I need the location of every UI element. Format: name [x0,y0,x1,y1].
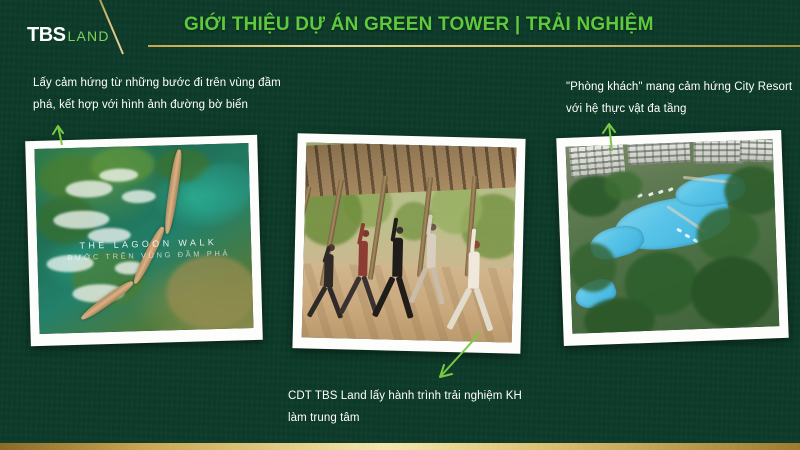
lagoon-foam [88,228,131,244]
photo-lagoon[interactable]: THE LAGOON WALK BƯỚC TRÊN VÙNG ĐẦM PHÁ [25,135,263,346]
resort-foliage [690,255,775,329]
photo-resort-image [566,139,780,333]
resort-lounger [648,191,654,196]
caption-left: Lấy cảm hứng từ những bước đi trên vùng … [33,72,303,117]
tbs-land-logo: TBS LAND [27,24,110,47]
lagoon-vegetation [166,254,254,330]
logo-secondary-text: LAND [68,28,110,44]
bottom-gold-bar [0,443,800,450]
arrow-down-left-icon-bottom [430,330,490,389]
resort-lounger [658,189,664,194]
resort-foliage [696,207,760,262]
photo-yoga[interactable] [292,133,525,354]
arrow-up-icon-right [592,114,626,157]
resort-building [627,139,690,165]
resort-lounger [668,187,674,192]
slide-header: TBS LAND GIỚI THIỆU DỰ ÁN GREEN TOWER | … [0,0,800,48]
resort-building [739,139,777,163]
lagoon-artwork: THE LAGOON WALK BƯỚC TRÊN VÙNG ĐẦM PHÁ [34,143,253,334]
lagoon-boardwalk [131,225,167,285]
resort-foliage [604,170,642,201]
caption-bottom: CDT TBS Land lấy hành trình trải nghiệm … [288,385,538,430]
lagoon-foam [121,190,156,204]
header-gold-rule [148,45,800,47]
logo-primary-text: TBS [27,24,66,47]
photo-resort[interactable] [556,130,788,346]
slide-canvas: TBS LAND GIỚI THIỆU DỰ ÁN GREEN TOWER | … [0,0,800,450]
yoga-figure [412,223,456,310]
resort-artwork [566,139,780,333]
lagoon-foam [65,180,113,198]
resort-building [694,139,744,163]
photo-yoga-image [302,142,517,342]
lagoon-foam [53,210,109,230]
page-title: GIỚI THIỆU DỰ ÁN GREEN TOWER | TRẢI NGHI… [184,14,654,36]
arrow-up-icon-left [42,112,76,151]
yoga-figure [453,240,501,335]
yoga-artwork [302,142,517,342]
photo-lagoon-image: THE LAGOON WALK BƯỚC TRÊN VÙNG ĐẦM PHÁ [34,143,253,334]
lagoon-water [193,161,253,211]
